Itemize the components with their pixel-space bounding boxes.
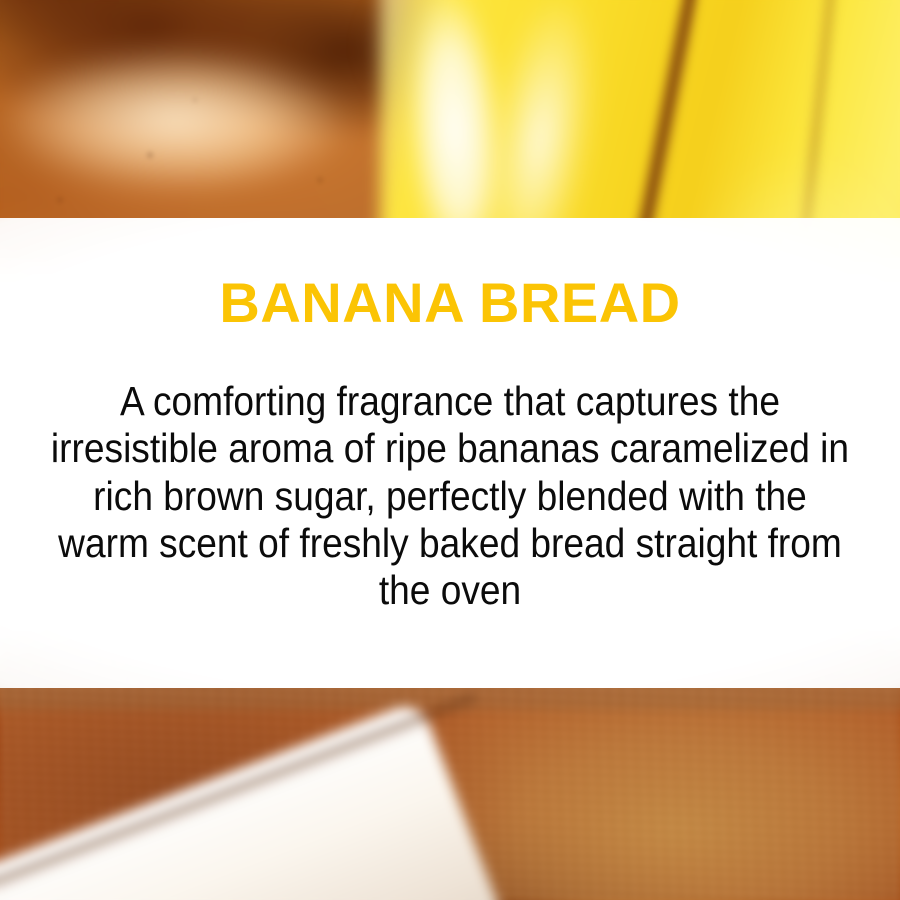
card-content: BANANA BREAD A comforting fragrance that… — [0, 0, 900, 900]
product-description: A comforting fragrance that captures the… — [50, 378, 850, 615]
product-card: BANANA BREAD A comforting fragrance that… — [0, 0, 900, 900]
page-title: BANANA BREAD — [0, 273, 900, 333]
